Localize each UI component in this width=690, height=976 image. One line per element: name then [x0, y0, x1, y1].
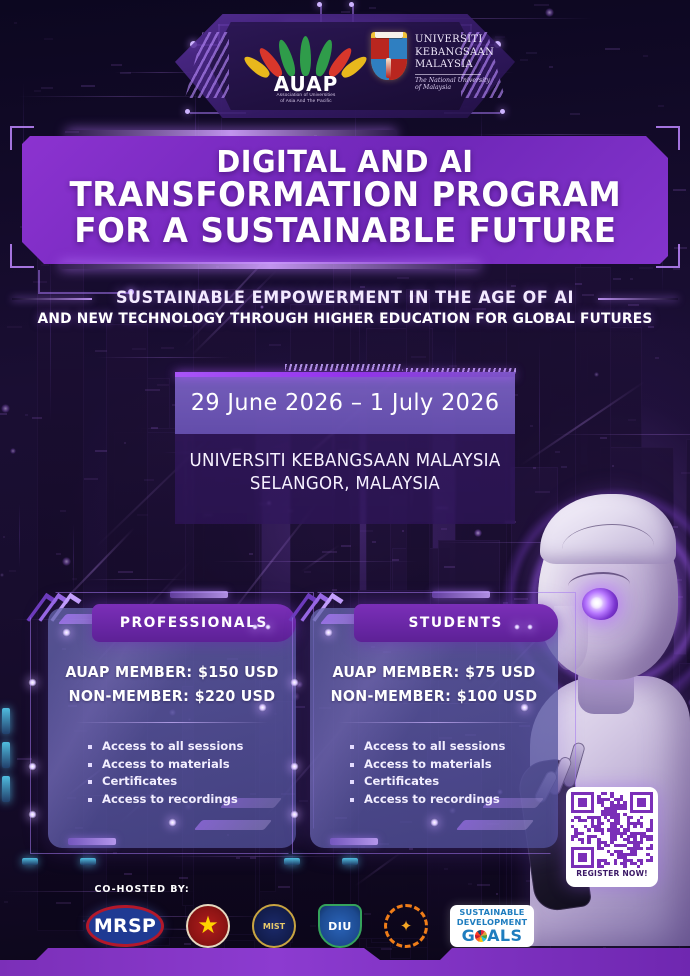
ukm-divider — [415, 74, 481, 75]
auap-fullname: Association of Universities of Asia And … — [259, 92, 353, 104]
panel-tick-left — [285, 364, 403, 371]
qr-label: REGISTER NOW! — [573, 869, 651, 878]
card-prices: AUAP MEMBER:$75 USD NON-MEMBER:$100 USD — [310, 660, 558, 708]
organizer-logo-badge: AUAP Association of Universities of Asia… — [175, 14, 515, 118]
cyan-bar-decor — [342, 858, 358, 865]
nonmember-label: NON-MEMBER: — [69, 687, 189, 705]
card-body — [310, 608, 558, 848]
benefit-item: Certificates — [86, 773, 243, 791]
glow-dot — [62, 628, 71, 637]
glow-dot — [258, 703, 267, 712]
diu-logo: DIU — [318, 904, 362, 948]
nonmember-label: NON-MEMBER: — [331, 687, 451, 705]
card-tab-professionals: PROFESSIONALS — [92, 604, 296, 642]
ukm-shield-icon — [371, 32, 407, 80]
event-poster: AUAP Association of Universities of Asia… — [0, 0, 690, 976]
ukm-tagline2: of Malaysia — [415, 84, 495, 92]
event-details-panel: 29 June 2026 – 1 July 2026 UNIVERSITI KE… — [175, 372, 515, 524]
glow-dot — [290, 762, 299, 771]
event-date-bar: 29 June 2026 – 1 July 2026 — [175, 372, 515, 434]
price-row-nonmember: NON-MEMBER:$100 USD — [316, 684, 552, 708]
ukm-line2: KEBANGSAAN — [415, 47, 495, 60]
card-sheen — [48, 608, 205, 848]
benefit-item: Access to all sessions — [86, 738, 243, 756]
auap-fullname-line2: of Asia And The Pacific — [259, 98, 353, 104]
card-prices: AUAP MEMBER:$150 USD NON-MEMBER:$220 USD — [48, 660, 296, 708]
auap-petal-mark-icon — [259, 30, 353, 76]
mrsp-wordmark: MRSP — [94, 915, 156, 937]
event-dates: 29 June 2026 – 1 July 2026 — [191, 390, 500, 416]
title-line-3: FOR A SUSTAINABLE FUTURE — [74, 214, 616, 249]
cyan-bar-decor — [80, 858, 96, 865]
corner-bracket-bottom-left — [10, 244, 34, 268]
member-label: AUAP MEMBER: — [65, 663, 192, 681]
glow-dot — [252, 624, 258, 630]
venue-line-2: SELANGOR, MALAYSIA — [184, 473, 507, 496]
sdg-color-wheel-icon — [475, 930, 487, 942]
corner-bracket-top-left — [10, 126, 34, 150]
member-price: $150 USD — [198, 663, 279, 681]
benefit-item: Certificates — [348, 773, 505, 791]
circuit-node-dot — [349, 2, 354, 7]
glow-dot — [28, 810, 37, 819]
glow-dot — [527, 624, 533, 630]
gear-seal-logo: ✦ — [384, 904, 428, 948]
corner-bracket-bottom-right — [656, 244, 680, 268]
glow-dot — [520, 703, 529, 712]
glow-dot — [430, 818, 439, 827]
cyan-bar-decor — [284, 858, 300, 865]
title-line-1: DIGITAL AND AI — [216, 147, 473, 178]
date-bar-accent — [175, 372, 515, 377]
benefit-item: Access to recordings — [348, 791, 505, 809]
robot-crown-plate — [540, 494, 676, 564]
card-sheen — [310, 608, 467, 848]
sdg-logo: SUSTAINABLE DEVELOPMENT GALS — [450, 905, 534, 947]
cyan-bar-decor — [2, 742, 10, 768]
cohost-logo-row: MRSP ★ MIST DIU ✦ SUSTAINABLE DEVELOPMEN… — [86, 898, 606, 954]
cyan-bar-decor — [2, 708, 10, 734]
card-divider — [76, 722, 268, 723]
benefit-item: Access to materials — [348, 756, 505, 774]
title-top-glow-edge — [66, 130, 396, 137]
poster-title-block: DIGITAL AND AI TRANSFORMATION PROGRAM FO… — [22, 136, 668, 264]
ukm-line1: UNIVERSITI — [415, 34, 495, 47]
robot-glowing-eye-icon — [582, 588, 618, 620]
price-row-nonmember: NON-MEMBER:$220 USD — [54, 684, 290, 708]
benefit-item: Access to all sessions — [348, 738, 505, 756]
ukm-logo: UNIVERSITI KEBANGSAAN MALAYSIA The Natio… — [371, 32, 495, 100]
mist-seal-logo: MIST — [252, 904, 296, 948]
card-tab-label: STUDENTS — [409, 615, 503, 631]
price-row-member: AUAP MEMBER:$75 USD — [316, 660, 552, 684]
glow-dot — [28, 678, 37, 687]
registration-qr-code[interactable]: REGISTER NOW! — [566, 787, 658, 887]
ukm-open-book-icon — [375, 32, 403, 38]
card-slant-decor — [194, 820, 272, 830]
title-line-2: TRANSFORMATION PROGRAM — [69, 178, 621, 213]
gear-emblem-icon: ✦ — [400, 917, 413, 935]
subtitle-line-1: SUSTAINABLE EMPOWERMENT IN THE AGE OF AI — [10, 288, 679, 307]
ukm-tagline1: The National University — [415, 77, 495, 85]
member-price: $75 USD — [465, 663, 535, 681]
glow-dot — [265, 624, 271, 630]
chip-decor — [432, 591, 490, 598]
card-divider — [338, 722, 530, 723]
glow-dot — [168, 818, 177, 827]
venue-line-1: UNIVERSITI KEBANGSAAN MALAYSIA — [184, 450, 507, 473]
ukm-line3: MALAYSIA — [415, 59, 495, 72]
pricing-card-students[interactable]: STUDENTS AUAP MEMBER:$75 USD NON-MEMBER:… — [310, 608, 558, 848]
robot-brow — [568, 572, 630, 588]
glow-dot — [290, 678, 299, 687]
chip-decor — [170, 591, 228, 598]
glow-dot — [324, 628, 333, 637]
card-benefits-list: Access to all sessions Access to materia… — [348, 738, 505, 808]
benefit-item: Access to recordings — [86, 791, 243, 809]
cyan-bar-decor — [22, 858, 38, 865]
glow-dot — [514, 624, 520, 630]
price-row-member: AUAP MEMBER:$150 USD — [54, 660, 290, 684]
card-body — [48, 608, 296, 848]
chip-decor — [330, 838, 378, 845]
chip-decor — [68, 838, 116, 845]
circuit-node-dot — [317, 2, 322, 7]
pup-seal-logo: ★ — [186, 904, 230, 948]
pricing-card-professionals[interactable]: PROFESSIONALS AUAP MEMBER:$150 USD NON-M… — [48, 608, 296, 848]
card-tab-label: PROFESSIONALS — [120, 615, 268, 631]
robot-neck — [578, 662, 634, 714]
mrsp-logo: MRSP — [86, 905, 164, 947]
poster-subtitle: SUSTAINABLE EMPOWERMENT IN THE AGE OF AI… — [0, 288, 690, 327]
glow-dot — [28, 762, 37, 771]
member-label: AUAP MEMBER: — [332, 663, 459, 681]
card-benefits-list: Access to all sessions Access to materia… — [86, 738, 243, 808]
diu-wordmark: DIU — [328, 920, 352, 933]
subtitle-line-2: AND NEW TECHNOLOGY THROUGH HIGHER EDUCAT… — [17, 311, 673, 327]
benefit-item: Access to materials — [86, 756, 243, 774]
ukm-keris-icon — [386, 58, 391, 78]
corner-bracket-top-right — [656, 126, 680, 150]
poster-title: DIGITAL AND AI TRANSFORMATION PROGRAM FO… — [22, 136, 668, 264]
glow-dot — [290, 810, 299, 819]
cyan-bar-decor — [2, 776, 10, 802]
sdg-line-3: GALS — [462, 927, 523, 944]
auap-logo: AUAP Association of Universities of Asia… — [259, 30, 353, 104]
title-bottom-glow-edge — [60, 262, 480, 269]
cohosted-by-label: CO-HOSTED BY: — [95, 884, 190, 895]
card-tab-students: STUDENTS — [354, 604, 558, 642]
event-venue: UNIVERSITI KEBANGSAAN MALAYSIA SELANGOR,… — [175, 450, 515, 496]
mist-wordmark: MIST — [263, 922, 285, 931]
ukm-wordmark: UNIVERSITI KEBANGSAAN MALAYSIA The Natio… — [415, 34, 495, 92]
star-icon: ★ — [197, 914, 219, 938]
card-slant-decor — [456, 820, 534, 830]
qr-code-pattern — [571, 792, 653, 868]
robot-head-seam — [562, 524, 654, 554]
footer-accent-bar — [0, 948, 690, 976]
